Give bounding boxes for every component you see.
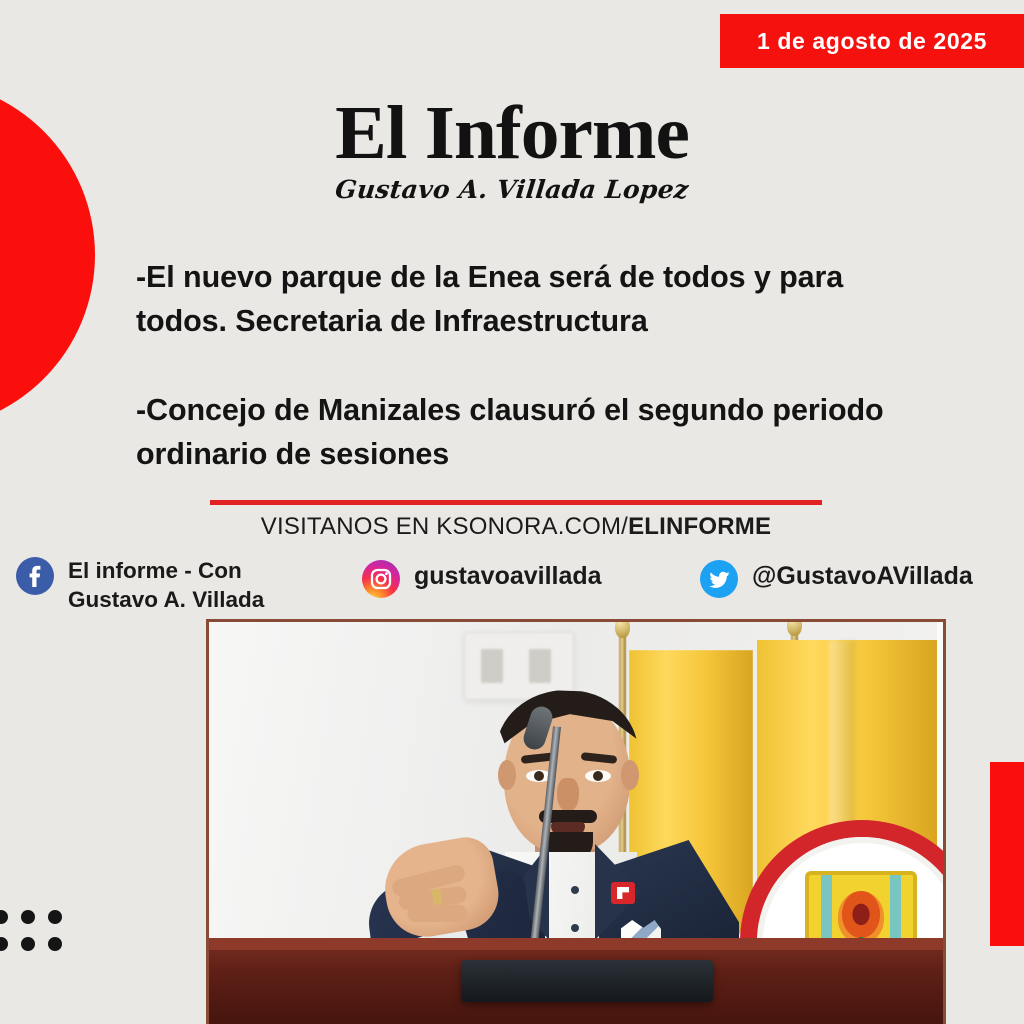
- page-title: El Informe: [0, 97, 1024, 169]
- news-photo: DEPARTAMENTO DE CALDAS: [206, 619, 946, 1024]
- visit-url-bold: ELINFORME: [628, 513, 771, 540]
- social-label-facebook: El informe - Con Gustavo A. Villada: [68, 557, 264, 615]
- dot-grid-decoration: [0, 903, 67, 953]
- social-link-instagram[interactable]: gustavoavillada: [362, 560, 602, 598]
- facebook-icon: [16, 557, 54, 595]
- social-link-twitter[interactable]: @GustavoAVillada: [700, 560, 973, 598]
- lapel-pin: [611, 882, 635, 904]
- right-red-block-decoration: [990, 762, 1024, 946]
- dot: [21, 937, 35, 951]
- masthead-subtitle: Gustavo A. Villada Lopez: [0, 175, 1024, 204]
- twitter-icon: [700, 560, 738, 598]
- red-divider-rule: [210, 500, 822, 505]
- visit-section: VISITANOS EN KSONORA.COM/ELINFORME: [210, 500, 822, 541]
- dot: [48, 937, 62, 951]
- headline-item: -El nuevo parque de la Enea será de todo…: [136, 256, 926, 343]
- dot: [0, 937, 8, 951]
- podium-nameplate: [461, 960, 713, 1002]
- visit-url: VISITANOS EN KSONORA.COM/ELINFORME: [210, 513, 822, 541]
- social-label-instagram: gustavoavillada: [414, 560, 602, 592]
- visit-url-prefix: VISITANOS EN KSONORA.COM/: [261, 513, 628, 540]
- dot: [21, 910, 35, 924]
- social-link-facebook[interactable]: El informe - Con Gustavo A. Villada: [16, 557, 264, 615]
- photo-illustration: DEPARTAMENTO DE CALDAS: [209, 622, 943, 1024]
- dot: [0, 910, 8, 924]
- masthead: El Informe Gustavo A. Villada Lopez: [0, 97, 1024, 204]
- instagram-icon: [362, 560, 400, 598]
- headline-item: -Concejo de Manizales clausuró el segund…: [136, 389, 926, 476]
- date-text: 1 de agosto de 2025: [757, 28, 987, 55]
- dot: [48, 910, 62, 924]
- headline-list: -El nuevo parque de la Enea será de todo…: [136, 256, 926, 476]
- shield-flower: [838, 891, 884, 943]
- date-banner: 1 de agosto de 2025: [720, 14, 1024, 68]
- social-row: El informe - Con Gustavo A. Villada gust…: [0, 552, 1024, 612]
- social-label-twitter: @GustavoAVillada: [752, 560, 973, 592]
